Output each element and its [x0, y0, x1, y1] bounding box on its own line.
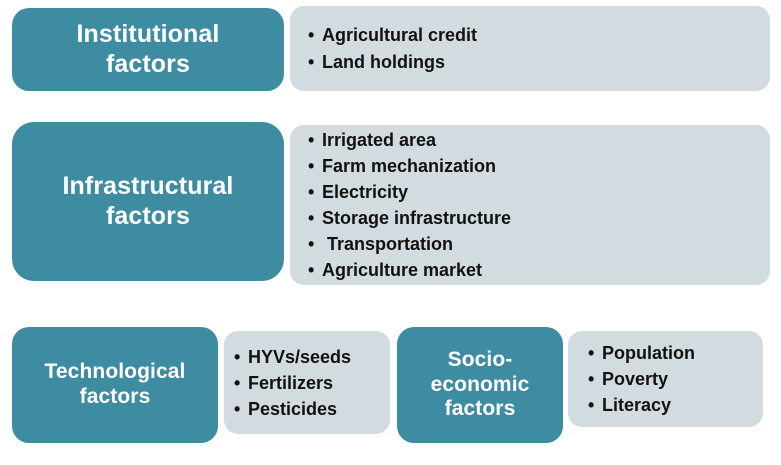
category-label-infrastructural: Infrastructural factors: [63, 172, 234, 231]
list-item-label: Land holdings: [322, 49, 445, 76]
list-item: • Storage infrastructure: [308, 205, 770, 231]
bullet-icon: •: [308, 257, 322, 283]
list-panel-socio-economic: • Population • Poverty • Literacy: [568, 331, 763, 427]
list-item: • Farm mechanization: [308, 153, 770, 179]
list-item-label: Population: [602, 340, 695, 366]
list-item: • Pesticides: [234, 396, 390, 422]
list-item: • Agriculture market: [308, 257, 770, 283]
list-item: • Fertilizers: [234, 370, 390, 396]
list-item-label: Poverty: [602, 366, 668, 392]
list-item-label: Irrigated area: [322, 127, 436, 153]
bullet-icon: •: [308, 231, 322, 257]
category-box-technological[interactable]: Technological factors: [12, 327, 218, 443]
list-item: • Population: [588, 340, 763, 366]
list-item-label: Pesticides: [248, 396, 337, 422]
list-item: • Irrigated area: [308, 127, 770, 153]
bullet-icon: •: [588, 340, 602, 366]
diagram-canvas: Institutional factors • Agricultural cre…: [0, 0, 781, 465]
category-label-technological: Technological factors: [45, 360, 186, 410]
list-panel-technological: • HYVs/seeds • Fertilizers • Pesticides: [224, 331, 390, 434]
list-socio-economic: • Population • Poverty • Literacy: [588, 340, 763, 418]
bullet-icon: •: [308, 49, 322, 76]
list-technological: • HYVs/seeds • Fertilizers • Pesticides: [234, 344, 390, 422]
list-item-label: HYVs/seeds: [248, 344, 351, 370]
list-item: • Agricultural credit: [308, 22, 770, 49]
category-box-infrastructural[interactable]: Infrastructural factors: [12, 122, 284, 281]
category-box-socio-economic[interactable]: Socio- economic factors: [397, 327, 563, 443]
list-panel-infrastructural: • Irrigated area • Farm mechanization • …: [290, 125, 770, 285]
category-label-socio-economic: Socio- economic factors: [431, 348, 530, 422]
list-item-label: Storage infrastructure: [322, 205, 511, 231]
bullet-icon: •: [588, 392, 602, 418]
list-item-label: Farm mechanization: [322, 153, 496, 179]
list-item: • Literacy: [588, 392, 763, 418]
list-item: • Poverty: [588, 366, 763, 392]
list-item-label: Agriculture market: [322, 257, 482, 283]
bullet-icon: •: [308, 179, 322, 205]
list-item: • Land holdings: [308, 49, 770, 76]
bullet-icon: •: [588, 366, 602, 392]
list-item-label: Transportation: [322, 231, 453, 257]
list-item-label: Agricultural credit: [322, 22, 477, 49]
bullet-icon: •: [308, 22, 322, 49]
list-item-label: Fertilizers: [248, 370, 333, 396]
category-label-institutional: Institutional factors: [77, 20, 220, 79]
list-institutional: • Agricultural credit • Land holdings: [308, 22, 770, 76]
bullet-icon: •: [234, 370, 248, 396]
category-box-institutional[interactable]: Institutional factors: [12, 8, 284, 91]
bullet-icon: •: [308, 127, 322, 153]
list-item: • Electricity: [308, 179, 770, 205]
list-item: • HYVs/seeds: [234, 344, 390, 370]
list-panel-institutional: • Agricultural credit • Land holdings: [290, 6, 770, 91]
bullet-icon: •: [308, 205, 322, 231]
list-infrastructural: • Irrigated area • Farm mechanization • …: [308, 127, 770, 283]
bullet-icon: •: [234, 396, 248, 422]
list-item: • Transportation: [308, 231, 770, 257]
bullet-icon: •: [234, 344, 248, 370]
list-item-label: Electricity: [322, 179, 408, 205]
bullet-icon: •: [308, 153, 322, 179]
list-item-label: Literacy: [602, 392, 671, 418]
